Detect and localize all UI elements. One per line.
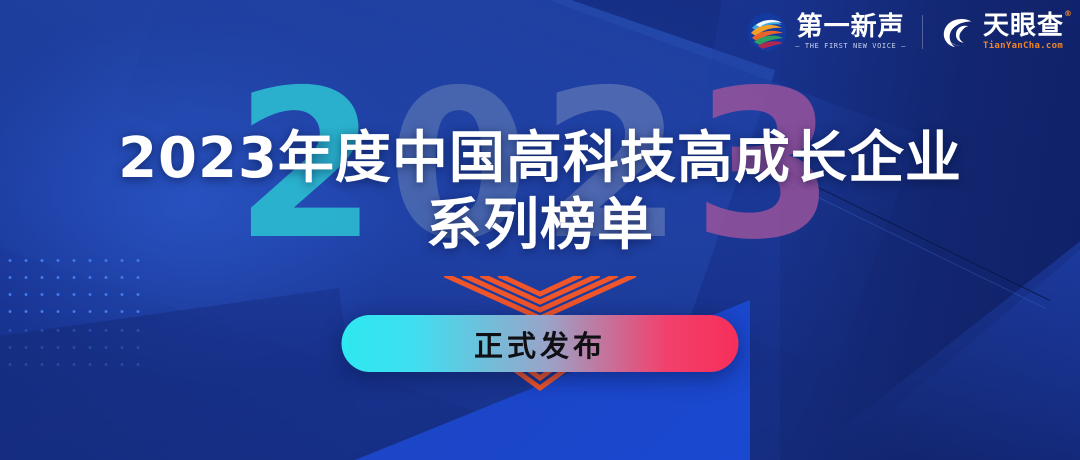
first-voice-en-tagline: — THE FIRST NEW VOICE — [795,42,906,50]
dot-grid-pattern-fade [2,322,148,376]
logo-divider [922,15,923,49]
tianyancha-lens-logo-icon [939,13,977,51]
promotional-banner: 2023 2023年度中国高科技高成长企业 系列榜单 正式发布 [0,0,1080,460]
page-title: 2023年度中国高科技高成长企业 系列榜单 [0,128,1080,257]
title-line-2: 系列榜单 [0,195,1080,258]
tianyancha-domain-label: TianYanCha.com [983,41,1064,51]
tianyancha-logo[interactable]: 天眼查® TianYanCha.com [939,13,1064,51]
tianyancha-cn-label: 天眼查® [983,13,1064,40]
trademark-icon: ® [1064,10,1073,18]
first-voice-cn-label: 第一新声 [797,14,905,41]
first-voice-logo[interactable]: 第一新声 — THE FIRST NEW VOICE — [747,12,906,52]
release-status-pill[interactable]: 正式发布 [342,315,739,372]
logo-group: 第一新声 — THE FIRST NEW VOICE — 天眼查® TianYa… [747,12,1064,52]
first-voice-swirl-logo-icon [747,12,787,52]
title-line-1: 2023年度中国高科技高成长企业 [0,128,1080,191]
tianyancha-cn-text: 天眼查 [983,11,1064,41]
release-status-label: 正式发布 [474,323,606,365]
